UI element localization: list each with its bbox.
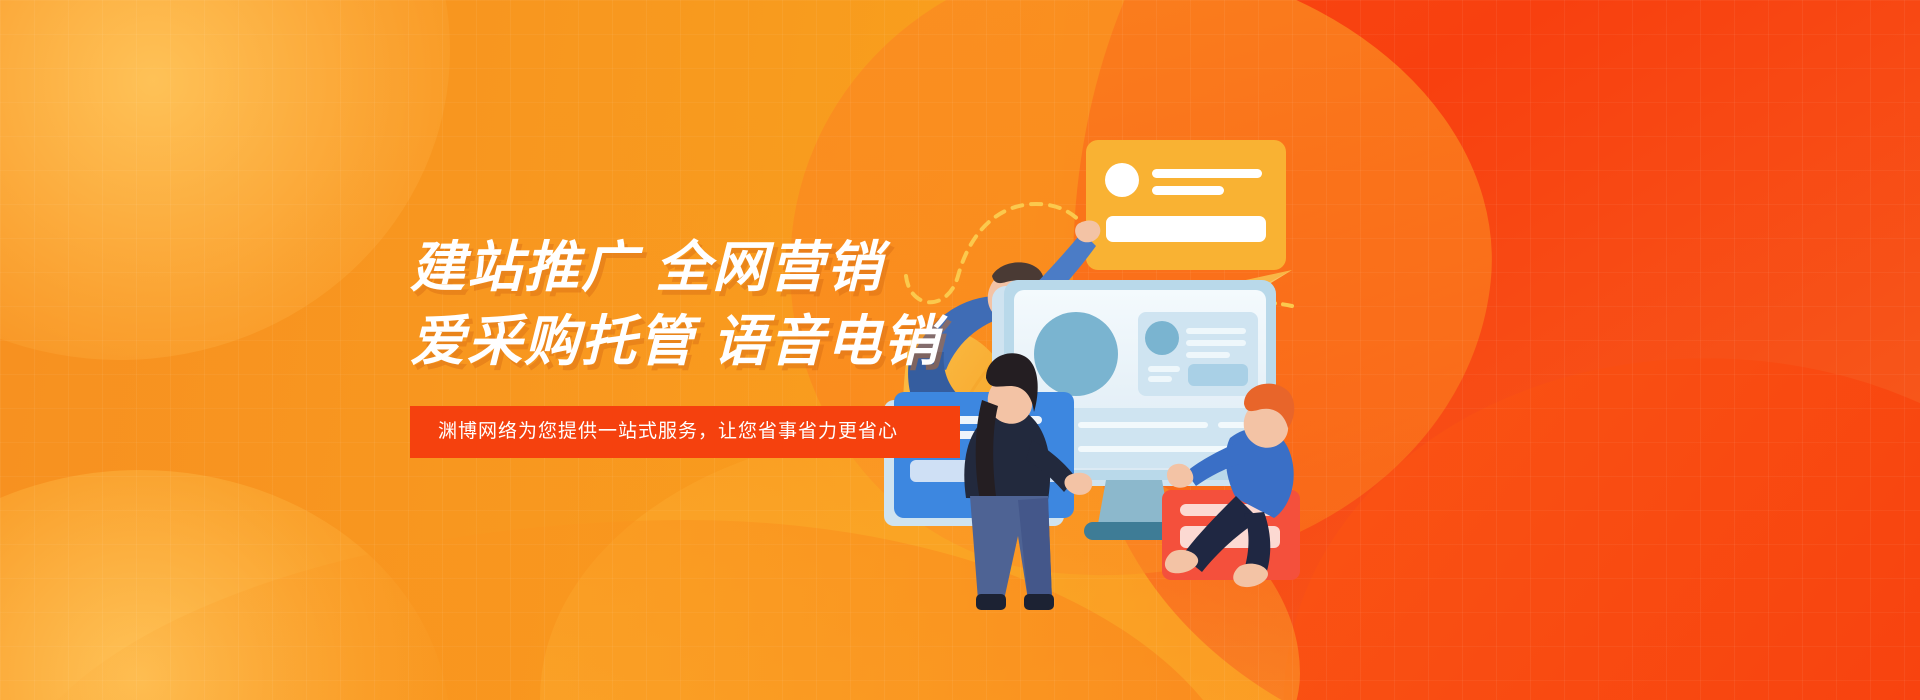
subtitle-ribbon: 渊博网络为您提供一站式服务，让您省事省力更省心 [410, 406, 960, 458]
headline-line-1: 建站推广 全网营销 [410, 230, 1130, 304]
banner-content: 建站推广 全网营销 爱采购托管 语音电销 渊博网络为您提供一站式服务，让您省事省… [410, 230, 1130, 458]
headline-line-2: 爱采购托管 语音电销 [410, 304, 1130, 378]
promo-banner: 建站推广 全网营销 爱采购托管 语音电销 渊博网络为您提供一站式服务，让您省事省… [0, 0, 1920, 700]
